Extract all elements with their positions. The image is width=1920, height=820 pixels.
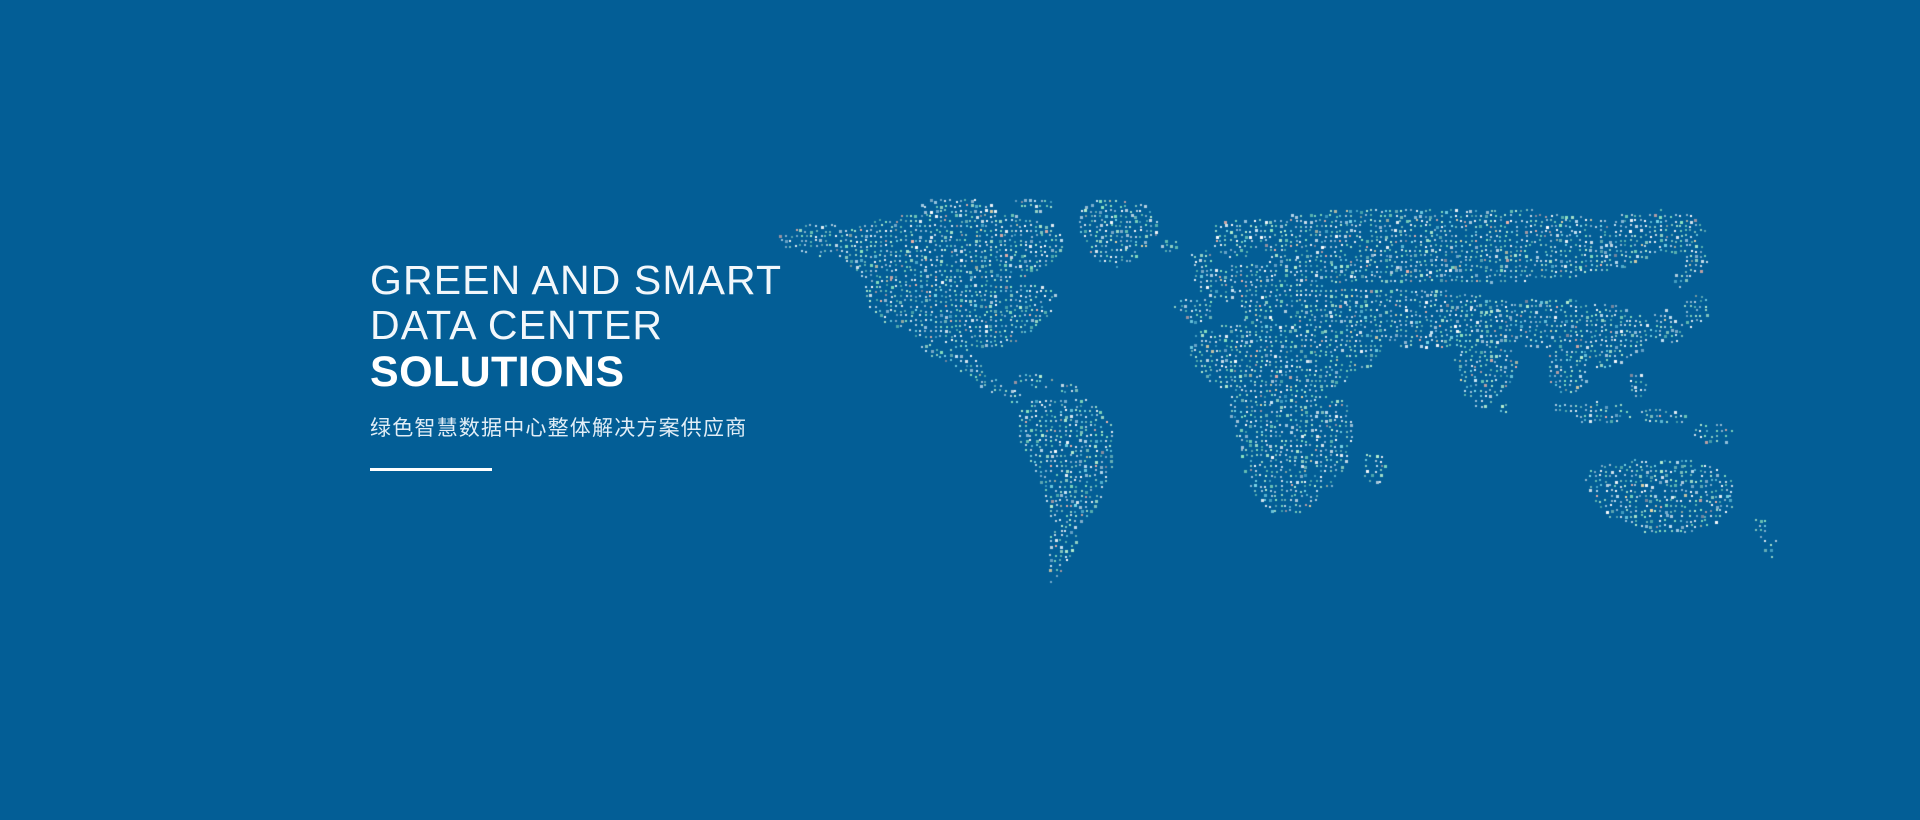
headline-line-1: GREEN AND SMART	[370, 258, 1010, 303]
headline-line-2: DATA CENTER	[370, 303, 1010, 348]
hero-banner: GREEN AND SMART DATA CENTER SOLUTIONS 绿色…	[0, 0, 1920, 820]
hero-text-block: GREEN AND SMART DATA CENTER SOLUTIONS 绿色…	[370, 258, 1010, 471]
subtitle: 绿色智慧数据中心整体解决方案供应商	[370, 415, 1010, 443]
accent-rule	[370, 468, 492, 471]
headline-line-3: SOLUTIONS	[370, 348, 1010, 397]
